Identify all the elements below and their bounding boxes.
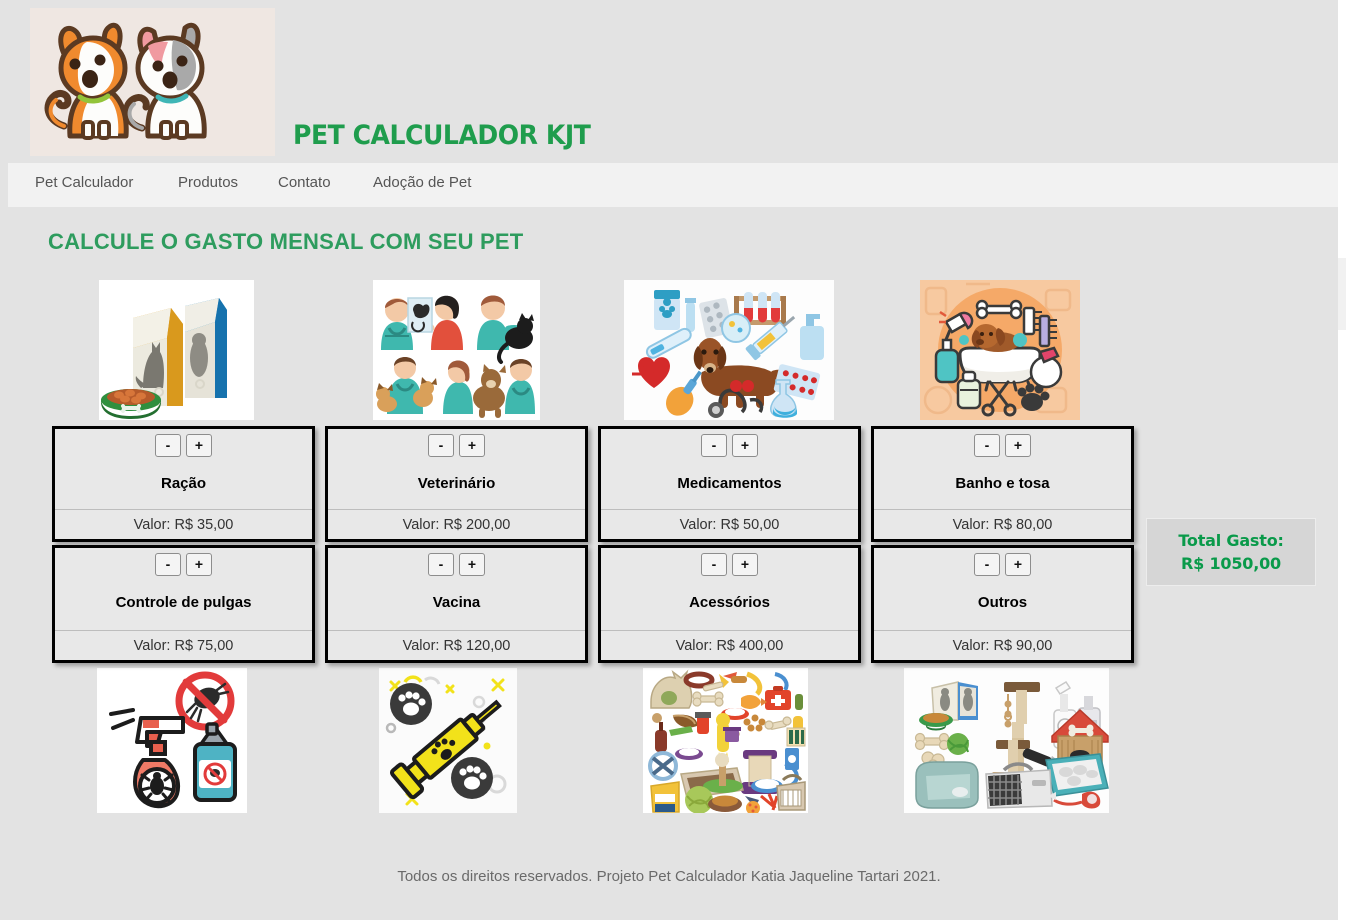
card-title-medicamentos: Medicamentos xyxy=(601,475,858,492)
card-medicamentos[interactable]: - + Medicamentos Valor: R$ 50,00 xyxy=(598,426,861,542)
quantity-controls: - + xyxy=(874,434,1131,457)
card-controle-de-pulgas[interactable]: - + Controle de pulgas Valor: R$ 75,00 xyxy=(52,545,315,663)
main-navigation: Pet Calculador Produtos Contato Adoção d… xyxy=(8,163,1338,207)
card-value-row: Valor: R$ 400,00 xyxy=(601,630,858,660)
thumbnail-flea-spray xyxy=(97,668,247,813)
card-banho-e-tosa[interactable]: - + Banho e tosa Valor: R$ 80,00 xyxy=(871,426,1134,542)
thumbnail-dog-bath-grooming xyxy=(920,280,1080,420)
card-value-outros: Valor: R$ 90,00 xyxy=(953,638,1053,654)
card-title-vacina: Vacina xyxy=(328,594,585,611)
thumbnail-pet-food-bags xyxy=(99,280,254,420)
footer-copyright: Todos os direitos reservados. Projeto Pe… xyxy=(0,868,1338,885)
card-value-row: Valor: R$ 120,00 xyxy=(328,630,585,660)
card-value-banho-e-tosa: Valor: R$ 80,00 xyxy=(953,517,1053,533)
increment-button-banho-e-tosa[interactable]: + xyxy=(1005,434,1031,457)
quantity-controls: - + xyxy=(874,553,1131,576)
decrement-button-controle-de-pulgas[interactable]: - xyxy=(155,553,181,576)
decrement-button-outros[interactable]: - xyxy=(974,553,1000,576)
page-root: PET CALCULADOR KJT Pet Calculador Produt… xyxy=(0,0,1338,920)
total-gasto-amount: R$ 1050,00 xyxy=(1181,554,1281,573)
thumbnail-veterinarians xyxy=(373,280,540,420)
card-title-racao: Ração xyxy=(55,475,312,492)
site-header: PET CALCULADOR KJT xyxy=(8,8,1338,156)
decrement-button-medicamentos[interactable]: - xyxy=(701,434,727,457)
card-title-outros: Outros xyxy=(874,594,1131,611)
quantity-controls: - + xyxy=(328,553,585,576)
card-value-acessorios: Valor: R$ 400,00 xyxy=(676,638,784,654)
card-vacina[interactable]: - + Vacina Valor: R$ 120,00 xyxy=(325,545,588,663)
card-value-vacina: Valor: R$ 120,00 xyxy=(403,638,511,654)
thumbnail-syringe-paws xyxy=(379,668,517,813)
decrement-button-racao[interactable]: - xyxy=(155,434,181,457)
scrollbar-thumb[interactable] xyxy=(1338,258,1346,330)
increment-button-controle-de-pulgas[interactable]: + xyxy=(186,553,212,576)
nav-item-contato[interactable]: Contato xyxy=(278,174,331,191)
decrement-button-veterinario[interactable]: - xyxy=(428,434,454,457)
thumbnail-medicines-dachshund xyxy=(624,280,834,420)
total-gasto-label: Total Gasto: xyxy=(1178,531,1283,550)
card-veterinario[interactable]: - + Veterinário Valor: R$ 200,00 xyxy=(325,426,588,542)
two-pets-logo-icon xyxy=(30,8,275,156)
card-value-row: Valor: R$ 75,00 xyxy=(55,630,312,660)
increment-button-veterinario[interactable]: + xyxy=(459,434,485,457)
card-value-row: Valor: R$ 90,00 xyxy=(874,630,1131,660)
decrement-button-banho-e-tosa[interactable]: - xyxy=(974,434,1000,457)
quantity-controls: - + xyxy=(55,434,312,457)
card-value-row: Valor: R$ 50,00 xyxy=(601,509,858,539)
card-outros[interactable]: - + Outros Valor: R$ 90,00 xyxy=(871,545,1134,663)
increment-button-vacina[interactable]: + xyxy=(459,553,485,576)
increment-button-acessorios[interactable]: + xyxy=(732,553,758,576)
decrement-button-acessorios[interactable]: - xyxy=(701,553,727,576)
decrement-button-vacina[interactable]: - xyxy=(428,553,454,576)
logo-container xyxy=(30,8,275,156)
card-title-controle-de-pulgas: Controle de pulgas xyxy=(55,594,312,611)
quantity-controls: - + xyxy=(601,553,858,576)
increment-button-racao[interactable]: + xyxy=(186,434,212,457)
increment-button-medicamentos[interactable]: + xyxy=(732,434,758,457)
card-value-medicamentos: Valor: R$ 50,00 xyxy=(680,517,780,533)
quantity-controls: - + xyxy=(601,434,858,457)
card-value-row: Valor: R$ 35,00 xyxy=(55,509,312,539)
thumbnail-pet-furniture xyxy=(904,668,1109,813)
card-value-row: Valor: R$ 200,00 xyxy=(328,509,585,539)
thumbnail-pet-accessories xyxy=(643,668,808,813)
card-title-acessorios: Acessórios xyxy=(601,594,858,611)
site-title: PET CALCULADOR KJT xyxy=(293,120,590,151)
card-value-veterinario: Valor: R$ 200,00 xyxy=(403,517,511,533)
card-value-row: Valor: R$ 80,00 xyxy=(874,509,1131,539)
page-title: CALCULE O GASTO MENSAL COM SEU PET xyxy=(48,229,523,255)
card-title-veterinario: Veterinário xyxy=(328,475,585,492)
total-gasto-panel: Total Gasto: R$ 1050,00 xyxy=(1146,518,1316,586)
nav-item-pet-calculador[interactable]: Pet Calculador xyxy=(35,174,133,191)
card-racao[interactable]: - + Ração Valor: R$ 35,00 xyxy=(52,426,315,542)
increment-button-outros[interactable]: + xyxy=(1005,553,1031,576)
card-acessorios[interactable]: - + Acessórios Valor: R$ 400,00 xyxy=(598,545,861,663)
card-title-banho-e-tosa: Banho e tosa xyxy=(874,475,1131,492)
nav-item-produtos[interactable]: Produtos xyxy=(178,174,238,191)
card-value-controle-de-pulgas: Valor: R$ 75,00 xyxy=(134,638,234,654)
nav-item-adocao-de-pet[interactable]: Adoção de Pet xyxy=(373,174,471,191)
quantity-controls: - + xyxy=(328,434,585,457)
card-value-racao: Valor: R$ 35,00 xyxy=(134,517,234,533)
quantity-controls: - + xyxy=(55,553,312,576)
scrollbar-track[interactable] xyxy=(1338,0,1346,920)
